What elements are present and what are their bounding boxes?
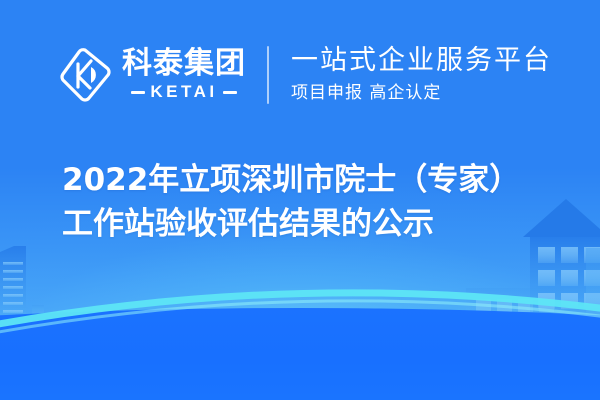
vertical-divider-icon [267, 46, 269, 104]
tagline-block: 一站式企业服务平台 项目申报 高企认定 [291, 45, 552, 105]
brand-wordmark: 科泰集团 KETAI [122, 48, 246, 103]
banner-header: 科泰集团 KETAI 一站式企业服务平台 项目申报 高企认定 [0, 0, 600, 150]
brand-name-en: KETAI [150, 82, 217, 102]
dash-icon [131, 91, 145, 94]
dash-icon [223, 91, 237, 94]
tagline-main: 一站式企业服务平台 [291, 45, 552, 77]
diamond-kp-monogram-icon [58, 45, 114, 105]
brand-name-en-row: KETAI [131, 82, 236, 102]
page-title: 2022年立项深圳市院士（专家）工作站验收评估结果的公示 [62, 158, 542, 246]
brand-name-cn: 科泰集团 [122, 48, 246, 80]
banner-root: 科泰集团 KETAI 一站式企业服务平台 项目申报 高企认定 2022年立项深圳… [0, 0, 600, 400]
tagline-sub: 项目申报 高企认定 [291, 82, 552, 105]
brand-logo[interactable]: 科泰集团 KETAI [58, 45, 246, 105]
